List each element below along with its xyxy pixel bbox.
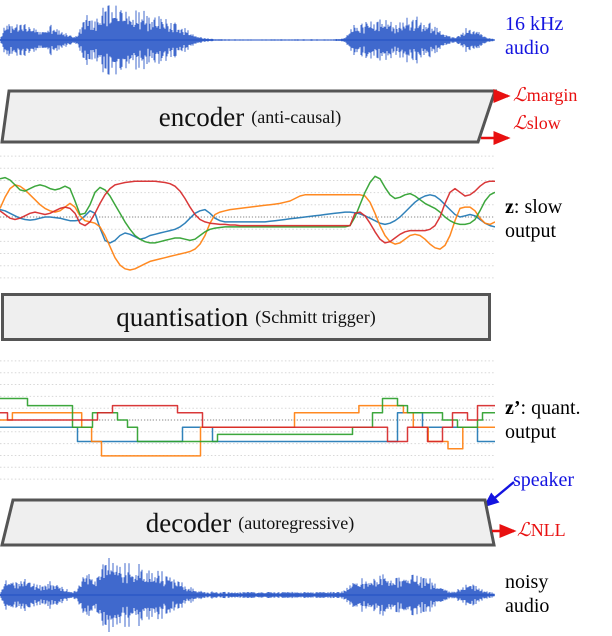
loss-slow: ℒslow [513,112,561,134]
loss-margin: ℒmargin [513,84,577,106]
input-audio-label-line1: 16 kHz [505,12,563,36]
speaker-label: speaker [513,468,574,492]
z-prime-symbol: z’ [505,397,521,419]
script-l-icon: ℒ [513,84,527,106]
z-slow-label: z: slow output [505,195,562,243]
z-slow-label-line2: output [505,219,562,243]
output-audio-label-line1: noisy [505,570,549,594]
input-audio-label-line2: audio [505,36,563,60]
z-quant-label-rest: : quant. [521,397,581,419]
loss-nll-sup: NLL [531,520,566,540]
decoder-shape [0,497,500,549]
z-quant-label-line1: z’: quant. [505,396,581,420]
output-audio-label: noisy audio [505,570,549,618]
encoder-loss-arrows [476,88,512,146]
z-symbol: z [505,196,514,218]
decoder-loss-arrow [490,520,520,542]
z-quant-plot [0,355,495,485]
encoder-block[interactable]: encoder (anti-causal) [0,88,500,146]
loss-slow-sup: slow [527,113,561,133]
input-audio-waveform [0,4,495,76]
z-quant-label: z’: quant. output [505,396,581,444]
output-audio-waveform [0,558,495,632]
loss-margin-sup: margin [527,85,578,105]
decoder-block[interactable]: decoder (autoregressive) [0,497,500,549]
z-slow-label-line1: z: slow [505,195,562,219]
script-l-icon: ℒ [513,112,527,134]
loss-nll: ℒNLL [517,519,566,541]
quantisation-block[interactable]: quantisation (Schmitt trigger) [0,292,492,342]
output-audio-label-line2: audio [505,594,549,618]
z-slow-label-rest: : slow [514,196,562,218]
quantisation-shape [0,292,492,342]
z-slow-plot [0,150,495,284]
encoder-shape [0,88,500,146]
z-quant-label-line2: output [505,420,581,444]
script-l-icon: ℒ [517,519,531,541]
input-audio-label: 16 kHz audio [505,12,563,60]
